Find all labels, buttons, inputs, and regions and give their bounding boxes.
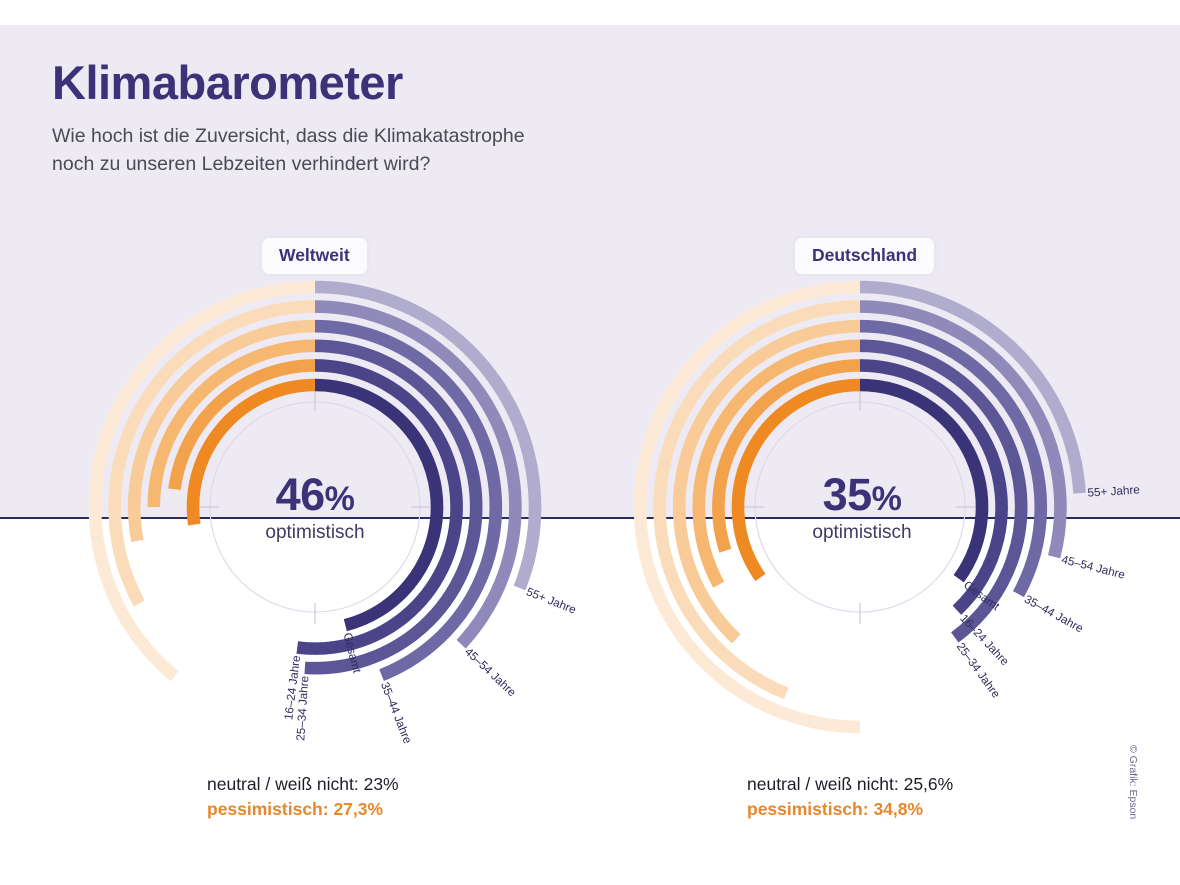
arc-label-group-4: 45–54 Jahre: [462, 645, 518, 699]
footnotes-deutschland: neutral / weiß nicht: 25,6% pessimistisc…: [747, 772, 953, 823]
ring-label-4: 45–54 Jahre: [462, 645, 518, 699]
page-title: Klimabarometer: [52, 58, 752, 107]
arc-label-group-3: 35–44 Jahre: [1022, 593, 1085, 636]
footnotes-weltweit: neutral / weiß nicht: 23% pessimistisch:…: [207, 772, 399, 823]
ring-label-3: 35–44 Jahre: [378, 680, 414, 745]
page-subtitle: Wie hoch ist die Zuversicht, dass die Kl…: [52, 123, 752, 178]
credit-note: © Grafik: Epson: [1127, 745, 1139, 819]
header-block: Klimabarometer Wie hoch ist die Zuversic…: [52, 58, 752, 179]
percent-symbol: %: [872, 480, 902, 518]
center-readout-deutschland: 35% optimistisch: [742, 472, 982, 544]
center-caption-deutschland: optimistisch: [742, 522, 982, 544]
center-readout-weltweit: 46% optimistisch: [195, 472, 435, 544]
percent-symbol: %: [325, 480, 355, 518]
footnote-pessimistic-weltweit: pessimistisch: 27,3%: [207, 797, 399, 822]
center-value-weltweit: 46: [276, 469, 325, 520]
footnote-pessimistic-deutschland: pessimistisch: 34,8%: [747, 797, 953, 822]
footnote-neutral-weltweit: neutral / weiß nicht: 23%: [207, 772, 399, 797]
footnote-neutral-deutschland: neutral / weiß nicht: 25,6%: [747, 772, 953, 797]
center-caption-weltweit: optimistisch: [195, 522, 435, 544]
center-value-deutschland: 35: [823, 469, 872, 520]
arc-label-group-3: 35–44 Jahre: [378, 680, 414, 745]
ring-label-3: 35–44 Jahre: [1022, 593, 1085, 636]
infographic-canvas: Klimabarometer Wie hoch ist die Zuversic…: [0, 0, 1180, 885]
